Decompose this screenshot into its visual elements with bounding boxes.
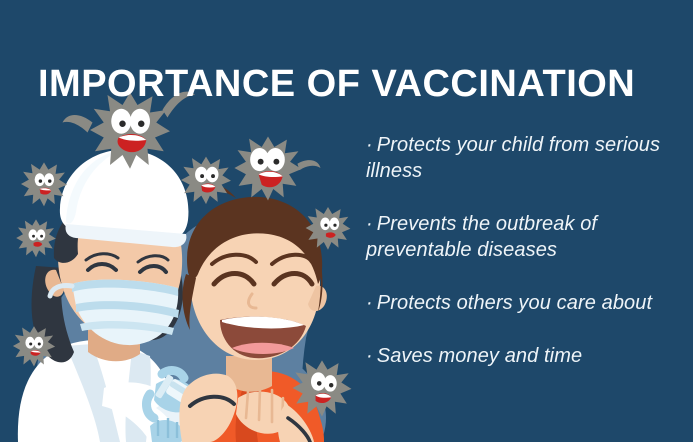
bullet-marker: · bbox=[366, 292, 373, 314]
page-title: IMPORTANCE OF VACCINATION bbox=[38, 61, 658, 107]
bullet-marker: · bbox=[366, 134, 373, 156]
list-item: ·Saves money and time bbox=[366, 343, 686, 369]
list-item-text: Protects others you care about bbox=[377, 292, 652, 314]
bullet-marker: · bbox=[366, 345, 373, 367]
child-figure bbox=[179, 185, 326, 442]
vaccination-infographic: IMPORTANCE OF VACCINATION ·Protects your… bbox=[0, 0, 693, 442]
list-item: ·Protects your child from serious illnes… bbox=[366, 132, 686, 184]
vaccination-illustration bbox=[0, 88, 368, 442]
bullet-marker: · bbox=[366, 213, 373, 235]
list-item-text: Prevents the outbreak of preventable dis… bbox=[366, 213, 597, 261]
list-item: ·Protects others you care about bbox=[366, 290, 686, 316]
list-item-text: Protects your child from serious illness bbox=[366, 134, 660, 182]
benefits-list: ·Protects your child from serious illnes… bbox=[366, 112, 686, 396]
list-item-text: Saves money and time bbox=[377, 345, 582, 367]
list-item: ·Prevents the outbreak of preventable di… bbox=[366, 211, 686, 263]
